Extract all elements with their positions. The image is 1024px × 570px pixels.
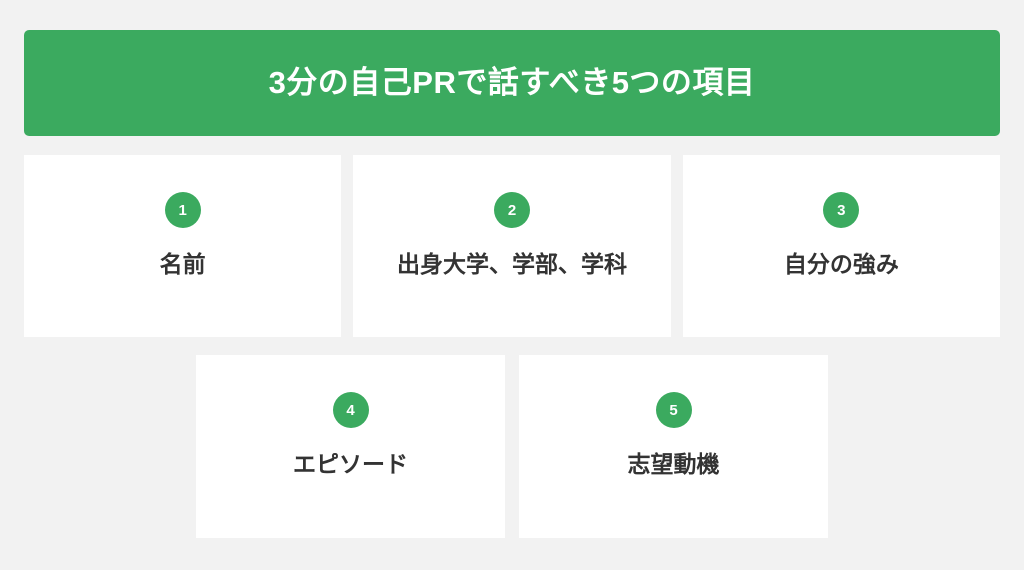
number-badge-2: 2 [494,192,530,228]
item-card-2[interactable]: 2 出身大学、学部、学科 [353,155,670,337]
item-label-3: 自分の強み [784,250,899,280]
number-badge-3: 3 [823,192,859,228]
card-row-bottom: 4 エピソード 5 志望動機 [196,355,828,538]
item-card-1[interactable]: 1 名前 [24,155,341,337]
item-card-4[interactable]: 4 エピソード [196,355,505,538]
item-card-3[interactable]: 3 自分の強み [683,155,1000,337]
number-badge-5: 5 [656,392,692,428]
item-card-5[interactable]: 5 志望動機 [519,355,828,538]
number-badge-4: 4 [333,392,369,428]
card-row-top: 1 名前 2 出身大学、学部、学科 3 自分の強み [24,155,1000,337]
infographic-slide: 3分の自己PRで話すべき5つの項目 1 名前 2 出身大学、学部、学科 3 自分… [0,0,1024,570]
page-title: 3分の自己PRで話すべき5つの項目 [269,64,756,101]
item-label-5: 志望動機 [628,450,720,480]
number-badge-1: 1 [165,192,201,228]
item-label-2: 出身大学、学部、学科 [397,250,627,280]
item-label-4: エピソード [293,450,408,480]
item-label-1: 名前 [160,250,206,280]
header-banner: 3分の自己PRで話すべき5つの項目 [24,30,1000,136]
